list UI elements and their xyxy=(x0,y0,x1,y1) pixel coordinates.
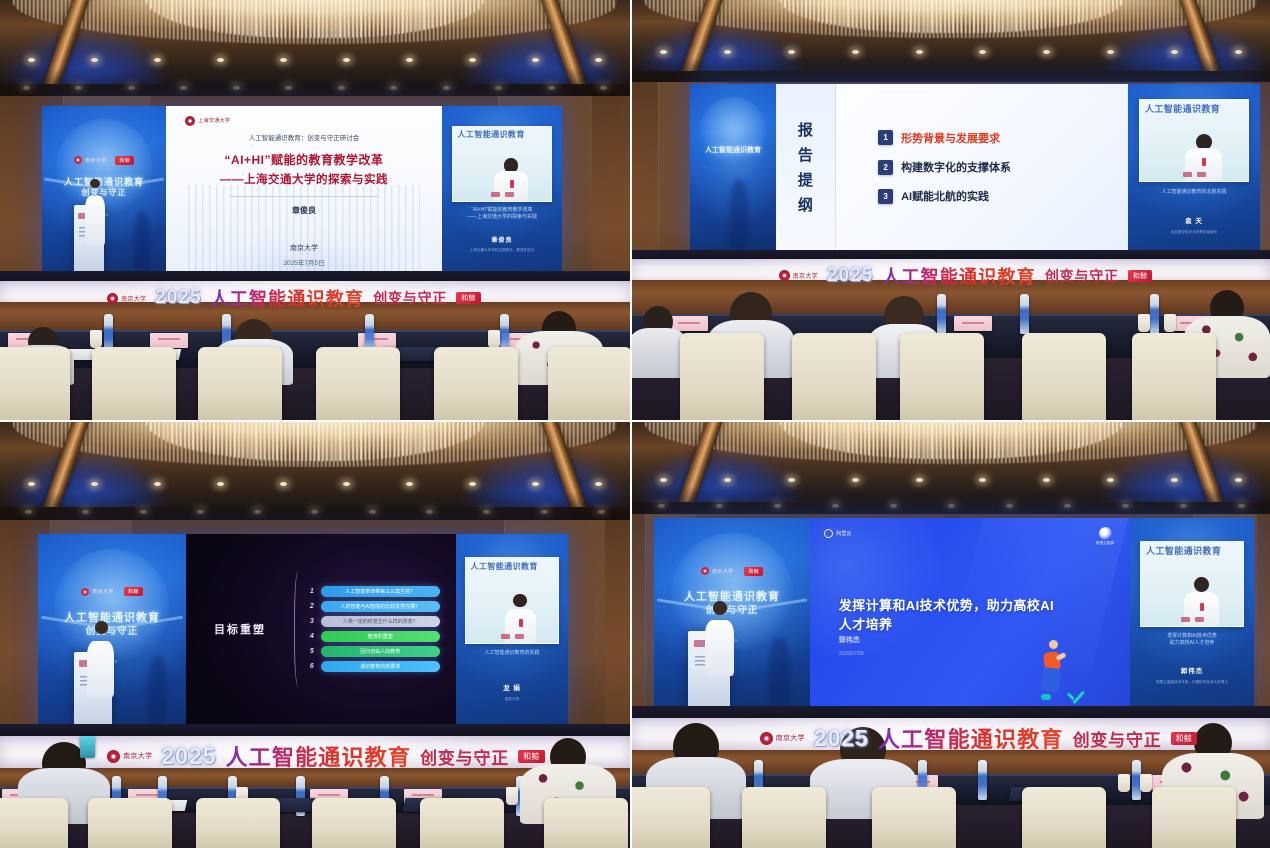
agenda-list: 1 形势背景与发展要求 2 构建数字化的支撑体系 3 AI赋能北航的实践 xyxy=(836,84,1128,250)
slide-kicker: 人工智能通识教育：创变与守正研讨会 xyxy=(249,132,360,142)
agenda-label: 构建数字化的支撑体系 xyxy=(901,159,1011,175)
downlight xyxy=(1043,50,1050,54)
name-card xyxy=(954,316,992,331)
banner-main-title: 人工智能通识教育 xyxy=(882,263,1036,289)
goal-label: 人的智能与AI智能的比较优势在哪？ xyxy=(321,601,440,612)
backdrop-silhouette xyxy=(134,212,150,271)
video-caption-line2: ——上海交通大学的探索与实践 xyxy=(447,214,557,221)
partner-logo: 和鲸 xyxy=(115,156,134,165)
downlight xyxy=(233,86,240,90)
downlight xyxy=(338,86,345,90)
video-presenter-name: 郭伟杰 xyxy=(1130,665,1254,675)
chair xyxy=(196,798,280,848)
downlight xyxy=(660,478,667,482)
downlight xyxy=(660,50,667,54)
backdrop-left-top-right: 人工智能通识教育 xyxy=(690,84,776,250)
presenter-head xyxy=(513,594,527,608)
stage-apron xyxy=(632,706,1270,718)
paper-cup xyxy=(1118,774,1130,792)
footer-logo xyxy=(1195,617,1204,622)
video-panel-top-right: 人工智能通识教育 人工智能通识教育的北航实践 袁 天 北京航空航天大学教务部部长 xyxy=(1128,84,1260,250)
downlight xyxy=(197,510,204,514)
downlight xyxy=(1122,504,1129,508)
downlight xyxy=(390,86,397,90)
downlight xyxy=(548,86,555,90)
downlight xyxy=(1171,50,1178,54)
speaker-head xyxy=(90,179,100,189)
downlight xyxy=(28,58,35,62)
nju-seal-icon xyxy=(74,156,82,164)
video-caption-line2: 助力高校AI人才培养 xyxy=(1135,640,1249,647)
slide-organization: 南京大学 xyxy=(290,243,318,253)
video-caption: “AI+HI”赋能的教育教学改革 ——上海交通大学的探索与实践 xyxy=(447,207,557,222)
slide-goals-bottom-left: 目标重塑 1 人工智能革命带来么公案生的？ 2 人的智能与AI智能的比较优势在哪… xyxy=(186,534,456,724)
nju-seal-icon xyxy=(107,293,118,304)
downlight xyxy=(595,482,602,486)
chair xyxy=(1022,333,1106,422)
chair xyxy=(0,798,68,848)
downlight xyxy=(1238,504,1245,508)
runner-legs xyxy=(1041,667,1061,692)
chair xyxy=(0,347,70,422)
downlight xyxy=(916,50,923,54)
downlight xyxy=(1107,478,1114,482)
downlight xyxy=(128,86,135,90)
chair xyxy=(632,787,710,848)
downlight xyxy=(426,510,433,514)
photo-collage: 南京大学 和鲸 人工智能通识教育 创变与守正 2025 xyxy=(0,0,1270,848)
goal-number: 3 xyxy=(305,618,314,625)
backdrop-silhouette xyxy=(148,656,167,724)
banner-year: 2025 xyxy=(155,287,201,309)
goal-label: 人类一定的时发生什么样的改变？ xyxy=(321,616,440,627)
downlight xyxy=(724,478,731,482)
sjtu-logo: 上海交通大学 xyxy=(185,116,230,126)
goal-item-1[interactable]: 1 人工智能革命带来么公案生的？ xyxy=(305,586,440,597)
agenda-item-3[interactable]: 3 AI赋能北航的实践 xyxy=(878,188,1128,204)
footer-logo xyxy=(491,192,500,197)
led-screen-top-left: 南京大学 和鲸 人工智能通识教育 创变与守正 2025 xyxy=(42,106,562,271)
video-caption-line1: 人工智能通识教育的北航实践 xyxy=(1133,189,1254,196)
ceiling-soffit xyxy=(632,71,1270,82)
goal-number: 6 xyxy=(305,663,314,670)
nju-logo: 南京大学 xyxy=(81,588,114,596)
speaker-body xyxy=(85,196,105,245)
agenda-label: AI赋能北航的实践 xyxy=(901,188,989,204)
downlight xyxy=(788,50,795,54)
stage-speaker xyxy=(87,621,115,697)
chair xyxy=(900,333,984,422)
slide-keynote-bottom-right: 阿里云 阿里云智算 发挥计算和AI技术优势，助力高校AI人才培养 郭伟杰 202… xyxy=(810,518,1130,706)
goal-number: 4 xyxy=(305,633,314,640)
downlight xyxy=(916,478,923,482)
agenda-side-char: 告 xyxy=(798,144,813,165)
goal-number: 1 xyxy=(305,588,314,595)
downlight xyxy=(724,50,731,54)
footer-logo xyxy=(1197,172,1206,177)
banner-nju-logo: 南京大学 xyxy=(107,750,152,763)
slide-agenda-top-right: 报 告 提 纲 1 形势背景与发展要求 2 构建数字化的支撑体系 3 xyxy=(776,84,1128,250)
downlight xyxy=(154,58,161,62)
downlight-row-1 xyxy=(632,50,1270,54)
banner-main-title: 人工智能通识教育 xyxy=(225,740,411,772)
nju-seal-icon xyxy=(701,567,709,575)
led-screen-bottom-left: 南京大学 和鲸 人工智能通识教育 创变与守正 2025 目标重塑 xyxy=(38,534,568,724)
blue-uplight-right xyxy=(466,33,624,93)
sjtu-logo-text: 上海交通大学 xyxy=(198,117,230,124)
chair xyxy=(316,347,400,422)
panel-top-left: 南京大学 和鲸 人工智能通识教育 创变与守正 2025 xyxy=(0,0,632,422)
slide-decoration-circle xyxy=(810,518,944,663)
goal-label: 通识教育的新要求 xyxy=(321,661,440,672)
downlight xyxy=(217,58,224,62)
chair xyxy=(544,798,628,848)
backdrop-silhouette xyxy=(730,180,749,250)
downlight xyxy=(532,482,539,486)
banner-subtitle: 创变与守正 xyxy=(420,744,509,769)
cloud-icon xyxy=(1099,527,1112,540)
downlight xyxy=(979,478,986,482)
backdrop-title-line1: 人工智能通识教育 xyxy=(690,147,776,156)
downlight xyxy=(1006,504,1013,508)
downlight xyxy=(1043,478,1050,482)
paper-cup xyxy=(1140,774,1152,792)
agenda-side-label: 报 告 提 纲 xyxy=(776,84,836,250)
backdrop-left-top-left: 南京大学 和鲸 人工智能通识教育 创变与守正 2025 xyxy=(42,106,166,271)
speaker-head xyxy=(713,601,727,615)
downlight xyxy=(1235,478,1242,482)
banner-partner-logo: 和鲸 xyxy=(518,750,545,763)
chair xyxy=(1022,787,1106,848)
video-presenter-role: 上海交通大学本科生院院长、教务处处长 xyxy=(442,248,562,253)
water-bottle xyxy=(978,760,987,800)
downlight xyxy=(595,58,602,62)
aliyun-mark-icon xyxy=(824,529,833,538)
panel-bottom-right: 南京大学 和鲸 人工智能通识教育 创变与守正 2025 xyxy=(632,422,1270,848)
banner-nju-text: 南京大学 xyxy=(123,751,152,761)
downlight-row-2 xyxy=(0,86,630,90)
ceiling-soffit xyxy=(0,84,630,96)
runner-shoe xyxy=(1041,694,1051,700)
downlight xyxy=(774,504,781,508)
keynote-date: 2025/07/05 xyxy=(839,651,864,657)
video-presenter-role: 高校代表 xyxy=(456,697,568,702)
pip-headline: 人工智能通识教育 xyxy=(1146,546,1238,558)
downlight xyxy=(600,86,607,90)
downlight xyxy=(285,86,292,90)
downlight xyxy=(495,86,502,90)
aliyun-logo-left: 阿里云 xyxy=(824,529,851,538)
chair xyxy=(92,347,176,422)
banner-nju-text: 南京大学 xyxy=(776,733,805,743)
goal-item-2[interactable]: 2 人的智能与AI智能的比较优势在哪？ xyxy=(305,601,440,612)
aliyun-logo-right: 阿里云智算 xyxy=(1096,527,1114,546)
banner-main-title: 人工智能通识教育 xyxy=(211,285,365,311)
goal-item-3[interactable]: 3 人类一定的时发生什么样的改变？ xyxy=(305,616,440,627)
slide-divider xyxy=(229,196,378,197)
audience-area-top-left xyxy=(0,302,630,420)
downlight xyxy=(443,86,450,90)
banner-partner-logo: 和鲸 xyxy=(456,292,481,304)
goal-number: 2 xyxy=(305,603,314,610)
downlight xyxy=(1235,50,1242,54)
footer-logo xyxy=(515,634,524,639)
goal-label: 人工智能革命带来么公案生的？ xyxy=(321,586,440,597)
banner-year: 2025 xyxy=(827,265,873,287)
downlight xyxy=(75,86,82,90)
paper-cup xyxy=(1164,314,1176,332)
video-presenter-name: 袁 天 xyxy=(1128,215,1260,225)
speaker-body xyxy=(705,620,735,676)
video-caption: 人工智能通识教育的实践 xyxy=(460,650,563,657)
downlight xyxy=(1171,478,1178,482)
agenda-side-char: 纲 xyxy=(798,194,813,215)
slide-heading-line1: “AI+HI”赋能的教育教学改革 xyxy=(224,151,383,168)
pip-frame: 人工智能通识教育 xyxy=(452,126,553,202)
chair xyxy=(872,787,956,848)
ceiling-soffit xyxy=(632,502,1270,514)
footer-logo xyxy=(501,634,510,639)
goals-left-label: 目标重塑 xyxy=(186,621,294,637)
chair xyxy=(680,333,764,422)
downlight xyxy=(469,58,476,62)
downlight xyxy=(1064,504,1071,508)
goal-item-6[interactable]: 6 通识教育的新要求 xyxy=(305,661,440,672)
downlight xyxy=(852,50,859,54)
agenda-item-1[interactable]: 1 形势背景与发展要求 xyxy=(878,130,1128,146)
agenda-number: 3 xyxy=(878,189,893,204)
stage-speaker xyxy=(704,601,735,676)
downlight xyxy=(217,482,224,486)
banner-nju-logo: 南京大学 xyxy=(779,270,818,281)
speaker-body xyxy=(87,641,114,697)
downlight xyxy=(979,50,986,54)
banner-subtitle: 创变与守正 xyxy=(1073,726,1162,751)
downlight xyxy=(598,510,605,514)
video-presenter-role: 阿里云高级技术专家、中国科学技术大学博士 xyxy=(1130,680,1254,685)
goal-item-5[interactable]: 5 回归自由人的教育 xyxy=(305,646,440,657)
downlight xyxy=(469,482,476,486)
downlight xyxy=(28,482,35,486)
pip-frame: 人工智能通识教育 xyxy=(1140,541,1244,627)
downlight xyxy=(541,510,548,514)
banner-main-title: 人工智能通识教育 xyxy=(878,722,1064,754)
downlight xyxy=(406,482,413,486)
downlight-row-1 xyxy=(0,58,630,62)
backdrop-logos: 南京大学 和鲸 xyxy=(38,587,186,596)
chair xyxy=(198,347,282,422)
agenda-side-char: 报 xyxy=(798,119,813,140)
downlight xyxy=(852,478,859,482)
runner-head xyxy=(1049,640,1059,650)
slide-author: 章俊良 xyxy=(292,205,316,216)
name-card xyxy=(150,333,188,348)
video-caption-line1: “AI+HI”赋能的教育教学改革 xyxy=(447,207,557,214)
paper-cup xyxy=(488,330,500,348)
banner-subtitle: 创变与守正 xyxy=(373,288,447,308)
banner-year: 2025 xyxy=(161,743,216,770)
keynote-author: 郭伟杰 xyxy=(839,635,860,645)
backdrop-silhouette xyxy=(769,638,789,706)
downlight xyxy=(25,510,32,514)
partner-logo: 和鲸 xyxy=(124,587,143,596)
stage-speaker xyxy=(84,179,105,245)
pip-headline: 人工智能通识教育 xyxy=(458,130,547,140)
footer-logo xyxy=(505,192,514,197)
footer-logo xyxy=(1181,617,1190,622)
pip-footer-logos xyxy=(459,192,546,197)
speaker-head xyxy=(95,621,108,634)
banner-nju-text: 南京大学 xyxy=(793,271,818,280)
presenter-lanyard xyxy=(510,180,514,188)
backdrop-left-bottom-right: 南京大学 和鲸 人工智能通识教育 创变与守正 2025 xyxy=(654,518,810,706)
downlight xyxy=(343,482,350,486)
slide-title-top-left: 上海交通大学 人工智能通识教育：创变与守正研讨会 “AI+HI”赋能的教育教学改… xyxy=(166,106,442,271)
downlight xyxy=(369,510,376,514)
video-caption-line1: 人工智能通识教育的实践 xyxy=(460,650,563,657)
led-screen-bottom-right: 南京大学 和鲸 人工智能通识教育 创变与守正 2025 xyxy=(654,518,1254,706)
audience-area-bottom-left xyxy=(0,768,630,848)
video-caption: 人工智能通识教育的北航实践 xyxy=(1133,189,1254,196)
water-bottle xyxy=(1020,294,1029,334)
downlight xyxy=(180,86,187,90)
chair xyxy=(792,333,876,422)
downlight xyxy=(91,482,98,486)
paper-cup xyxy=(506,787,518,805)
downlight xyxy=(948,504,955,508)
led-screen-top-right: 人工智能通识教育 报 告 提 纲 1 形势背景与发展要求 2 xyxy=(690,84,1260,250)
ceiling-soffit xyxy=(0,507,630,520)
blue-uplight-left xyxy=(6,33,164,93)
downlight xyxy=(311,510,318,514)
downlight xyxy=(788,478,795,482)
downlight xyxy=(82,510,89,514)
downlight xyxy=(254,510,261,514)
goal-item-4[interactable]: 4 教育的重塑 xyxy=(305,631,440,642)
downlight xyxy=(832,504,839,508)
audience-area-bottom-right xyxy=(632,750,1270,848)
pip-footer-logos xyxy=(1147,617,1237,622)
ceiling-bottom-left xyxy=(0,422,630,520)
nju-logo: 南京大学 xyxy=(701,567,734,575)
keynote-title: 发挥计算和AI技术优势，助力高校AI人才培养 xyxy=(839,595,1060,633)
agenda-number: 1 xyxy=(878,130,893,145)
partner-logo: 和鲸 xyxy=(744,567,763,576)
downlight xyxy=(890,504,897,508)
audience-area-top-right xyxy=(632,280,1270,420)
runner-illustration xyxy=(1035,638,1069,700)
banner-partner-logo: 和鲸 xyxy=(1171,732,1198,745)
ceiling-top-right xyxy=(632,0,1270,82)
downlight-row-1 xyxy=(632,478,1270,482)
pip-footer-logos xyxy=(471,634,552,639)
chair xyxy=(88,798,172,848)
downlight-row-1 xyxy=(0,482,630,486)
downlight xyxy=(140,510,147,514)
agenda-item-2[interactable]: 2 构建数字化的支撑体系 xyxy=(878,159,1128,175)
ceiling-top-left xyxy=(0,0,630,96)
chair xyxy=(742,787,826,848)
goals-brace xyxy=(294,570,305,688)
video-panel-bottom-left: 人工智能通识教育 人工智能通识教育的实践 龙 娟 高校代表 xyxy=(456,534,568,724)
slide-heading-line2: ——上海交通大学的探索与实践 xyxy=(220,171,388,187)
banner-partner-logo: 和鲸 xyxy=(1128,270,1153,282)
nju-seal-icon xyxy=(760,732,773,745)
downlight xyxy=(1180,504,1187,508)
paper-cup xyxy=(1138,314,1150,332)
downlight xyxy=(23,86,30,90)
downlight xyxy=(91,58,98,62)
pip-frame: 人工智能通识教育 xyxy=(465,557,559,644)
goal-label: 回归自由人的教育 xyxy=(321,646,440,657)
banner-nju-logo: 南京大学 xyxy=(760,732,805,745)
video-caption: 发挥计算和AI技术优势 助力高校AI人才培养 xyxy=(1135,633,1249,648)
agenda-label: 形势背景与发展要求 xyxy=(901,130,1000,146)
agenda-side-char: 提 xyxy=(798,169,813,190)
downlight xyxy=(280,482,287,486)
pip-frame: 人工智能通识教育 xyxy=(1139,99,1250,182)
chair xyxy=(1132,333,1216,422)
smartphone xyxy=(80,736,95,758)
pip-footer-logos xyxy=(1146,172,1242,177)
nju-logo: 南京大学 xyxy=(74,156,107,164)
downlight xyxy=(280,58,287,62)
downlight xyxy=(532,58,539,62)
nju-seal-icon xyxy=(107,750,120,763)
video-presenter-name: 龙 娟 xyxy=(456,682,568,692)
aliyun-logo-text: 阿里云 xyxy=(836,530,851,537)
downlight xyxy=(154,482,161,486)
backdrop-title: 人工智能通识教育 xyxy=(690,147,776,156)
chair xyxy=(1152,787,1236,848)
downlight xyxy=(483,510,490,514)
stage-apron xyxy=(0,724,630,736)
presenter-lanyard xyxy=(1202,158,1206,166)
stage-apron xyxy=(632,250,1270,259)
backdrop-left-bottom-left: 南京大学 和鲸 人工智能通识教育 创变与守正 2025 xyxy=(38,534,186,724)
pip-headline: 人工智能通识教育 xyxy=(471,562,554,572)
goals-list: 1 人工智能革命带来么公案生的？ 2 人的智能与AI智能的比较优势在哪？ 3 人… xyxy=(305,586,456,672)
presenter-lanyard xyxy=(1200,603,1204,611)
banner-nju-text: 南京大学 xyxy=(121,294,146,303)
name-card xyxy=(358,333,396,348)
slide-date: 2025年7月5日 xyxy=(283,257,324,267)
video-presenter-role: 北京航空航天大学教务部部长 xyxy=(1128,230,1260,235)
presenter-lanyard xyxy=(519,619,523,627)
backdrop-logos: 南京大学 和鲸 xyxy=(654,567,810,576)
footer-logo xyxy=(1183,172,1192,177)
goal-label: 教育的重塑 xyxy=(321,631,440,642)
backdrop-logos: 南京大学 和鲸 xyxy=(42,156,166,165)
downlight xyxy=(343,58,350,62)
downlight-row-2 xyxy=(0,510,630,514)
stage-apron xyxy=(0,271,630,281)
downlight xyxy=(716,504,723,508)
chair xyxy=(420,798,504,848)
nju-seal-icon xyxy=(81,588,89,596)
paper-cup xyxy=(90,330,102,348)
chair xyxy=(312,798,396,848)
checkmark-icon xyxy=(1067,684,1085,702)
sjtu-seal-icon xyxy=(185,116,195,126)
downlight xyxy=(406,58,413,62)
nju-seal-icon xyxy=(779,270,790,281)
aliyun-logo-right-text: 阿里云智算 xyxy=(1096,541,1114,546)
video-caption-line1: 发挥计算和AI技术优势 xyxy=(1135,633,1249,640)
video-panel-top-left: 人工智能通识教育 “AI+HI”赋能的教育教学改革 ——上海交通大学的探索与实践… xyxy=(442,106,562,271)
downlight xyxy=(658,504,665,508)
panel-bottom-left: 南京大学 和鲸 人工智能通识教育 创变与守正 2025 目标重塑 xyxy=(0,422,632,848)
